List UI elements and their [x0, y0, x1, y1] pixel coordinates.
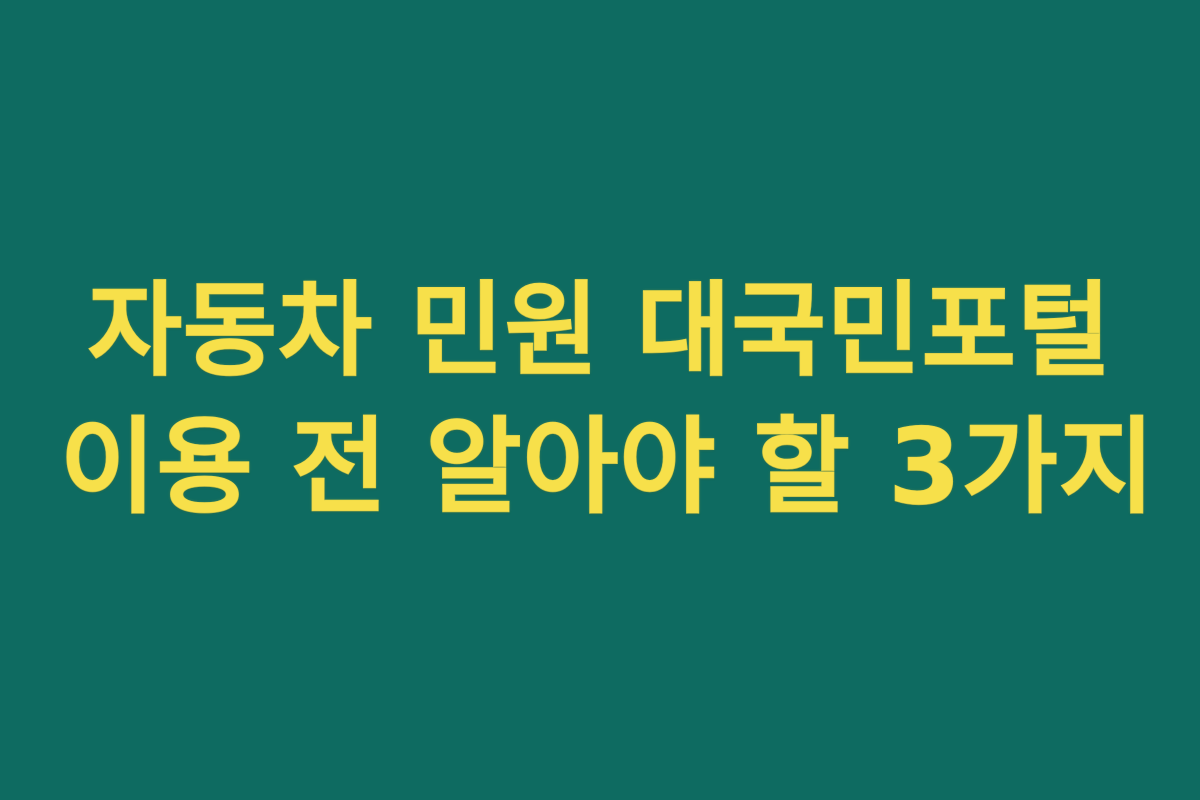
headline-line-2: 이용 전 알아야 할 3가지 — [60, 413, 1140, 521]
title-card-banner: 자동차 민원 대국민포털 이용 전 알아야 할 3가지 — [0, 0, 1200, 800]
headline-line-1: 자동차 민원 대국민포털 — [60, 279, 1140, 385]
headline-block: 자동차 민원 대국민포털 이용 전 알아야 할 3가지 — [60, 279, 1140, 521]
